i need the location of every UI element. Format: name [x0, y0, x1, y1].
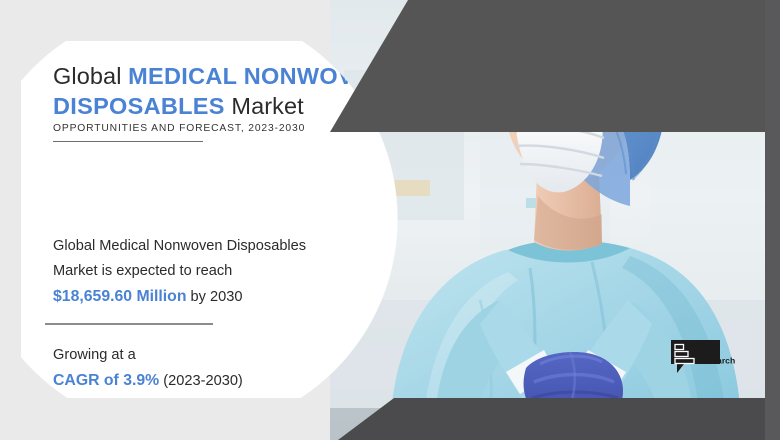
- market-size-value: $18,659.60 Million: [53, 288, 186, 305]
- cagr-block: Growing at a CAGR of 3.9% (2023-2030): [53, 343, 393, 394]
- cagr-value: CAGR of 3.9%: [53, 372, 159, 389]
- allied-market-research-logo[interactable]: Allied Market Research: [670, 339, 748, 379]
- infographic-banner: Global MEDICAL NONWOVEN DISPOSABLES Mark…: [0, 0, 780, 440]
- section-divider: [45, 323, 213, 325]
- title-word-medical-nonwoven: MEDICAL NONWOVEN: [128, 63, 387, 89]
- speech-bubble-bars-icon: Allied Market Research: [670, 339, 748, 379]
- logo-line-3: Research: [697, 356, 736, 366]
- subtitle-underline: [53, 141, 203, 142]
- cagr-line-1: Growing at a: [53, 343, 393, 368]
- decorative-band-top: [330, 0, 780, 132]
- market-size-block: Global Medical Nonwoven Disposables Mark…: [53, 234, 413, 310]
- market-size-line-1: Global Medical Nonwoven Disposables: [53, 234, 413, 259]
- subtitle-opportunities-forecast: OPPORTUNITIES AND FORECAST, 2023-2030: [53, 123, 305, 134]
- cagr-value-row: CAGR of 3.9% (2023-2030): [53, 368, 393, 394]
- market-size-year: by 2030: [191, 289, 243, 305]
- decorative-band-bottom: [0, 398, 780, 440]
- cagr-period: (2023-2030): [163, 373, 243, 389]
- title-word-market: Market: [231, 93, 303, 119]
- title-word-disposables: DISPOSABLES: [53, 93, 225, 119]
- market-size-value-row: $18,659.60 Million by 2030: [53, 284, 413, 310]
- decorative-edge-right: [765, 0, 780, 440]
- market-size-line-2: Market is expected to reach: [53, 259, 413, 284]
- title-word-global: Global: [53, 63, 122, 89]
